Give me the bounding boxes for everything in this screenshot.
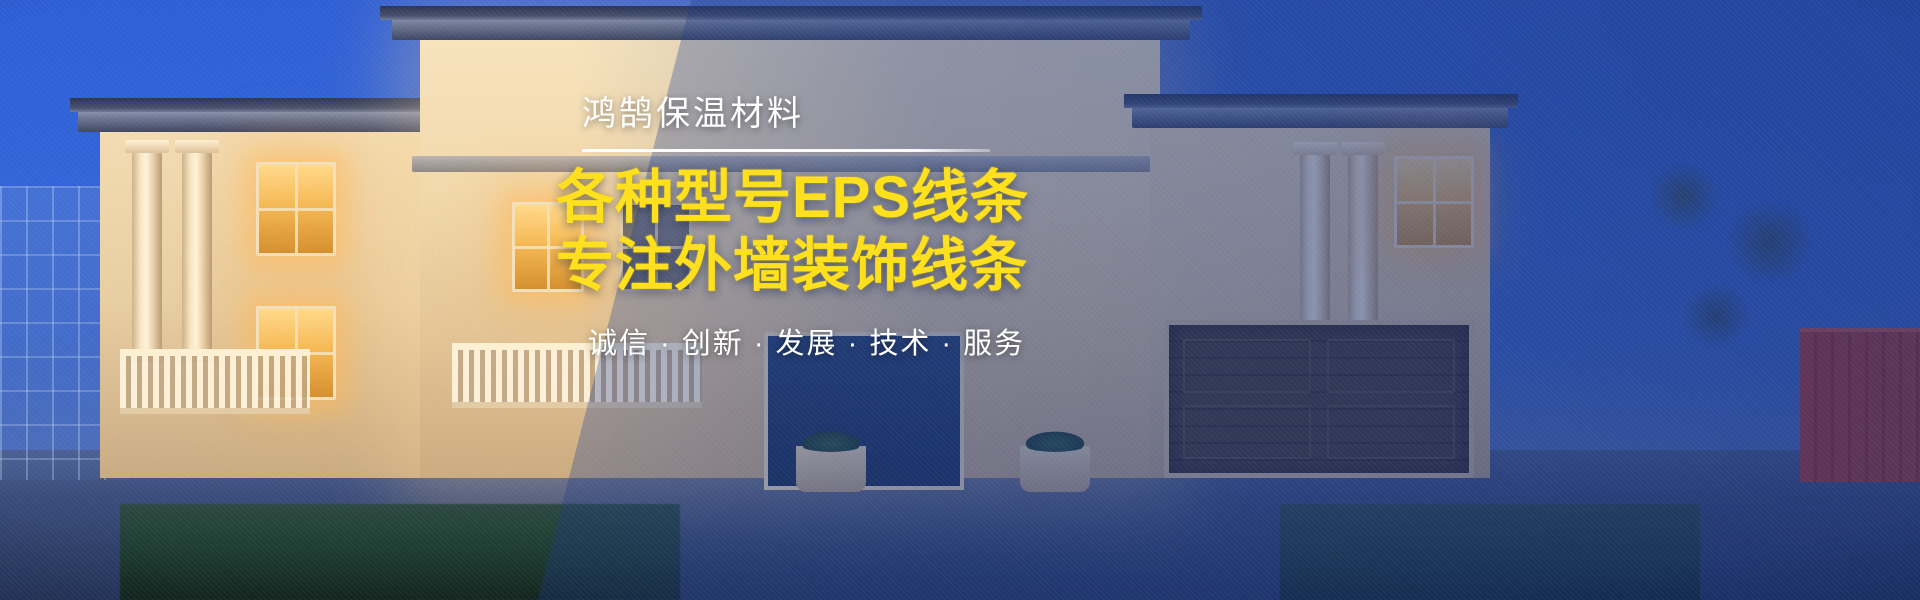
tagline: 诚信 · 创新 · 发展 · 技术 · 服务 [588, 320, 1026, 362]
divider-rule [582, 149, 990, 152]
headline-line-1: 各种型号EPS线条 [556, 166, 1026, 230]
hero-banner: 鸿鹄保温材料 各种型号EPS线条 专注外墙装饰线条 诚信 · 创新 · 发展 ·… [0, 0, 1920, 600]
banner-copy: 鸿鹄保温材料 各种型号EPS线条 专注外墙装饰线条 诚信 · 创新 · 发展 ·… [556, 96, 1026, 362]
headline-line-2: 专注外墙装饰线条 [556, 234, 1026, 298]
brand-name: 鸿鹄保温材料 [582, 96, 1026, 133]
